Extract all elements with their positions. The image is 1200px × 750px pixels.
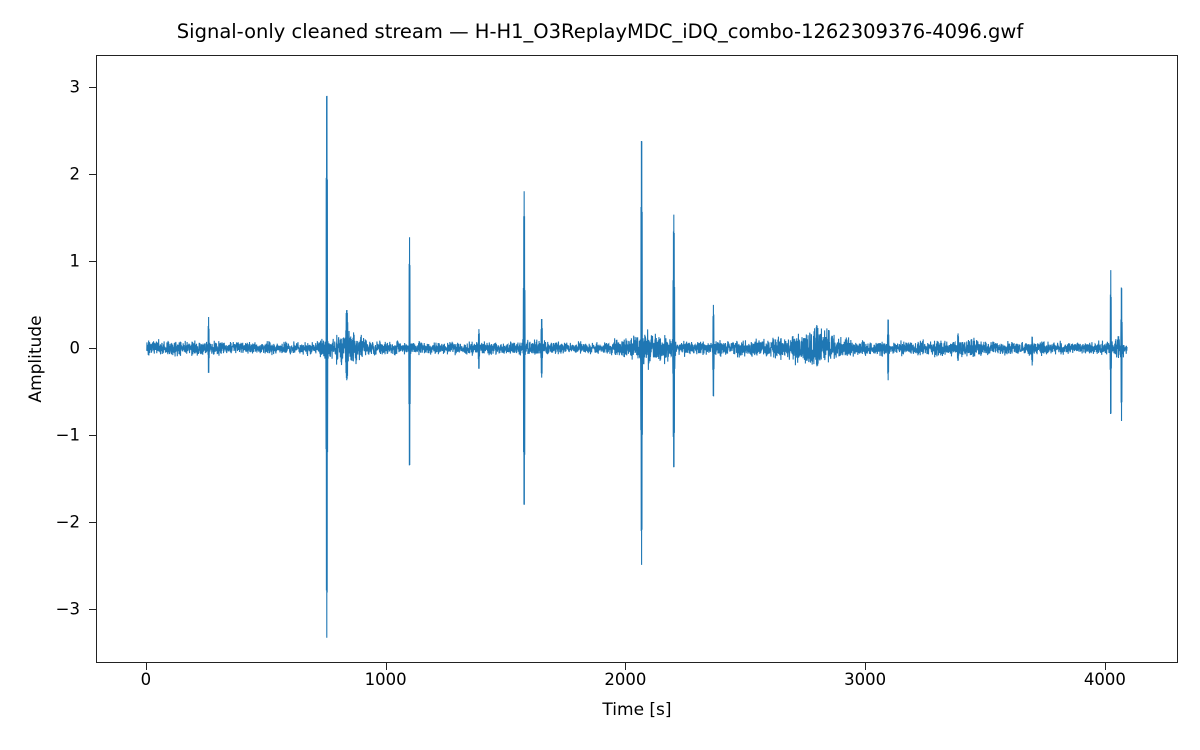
y-tick-label: 1: [20, 252, 80, 271]
y-tick-mark: [89, 609, 96, 610]
series-line-cleaned-strain: [147, 96, 1127, 638]
y-tick-label: −2: [20, 513, 80, 532]
y-axis-label: Amplitude: [26, 55, 54, 663]
y-tick-mark: [89, 261, 96, 262]
x-tick-mark: [625, 663, 626, 670]
plot-axes-area: [96, 55, 1178, 663]
x-tick-label: 3000: [820, 670, 910, 689]
x-tick-mark: [146, 663, 147, 670]
chart-title: Signal-only cleaned stream — H-H1_O3Repl…: [0, 20, 1200, 43]
y-tick-label: 0: [20, 339, 80, 358]
x-tick-label: 4000: [1060, 670, 1150, 689]
y-tick-label: 3: [20, 78, 80, 97]
x-tick-label: 0: [101, 670, 191, 689]
y-tick-label: −1: [20, 426, 80, 445]
y-tick-mark: [89, 435, 96, 436]
x-tick-label: 1000: [341, 670, 431, 689]
y-tick-mark: [89, 522, 96, 523]
x-tick-mark: [1105, 663, 1106, 670]
y-tick-mark: [89, 348, 96, 349]
y-tick-mark: [89, 174, 96, 175]
x-tick-mark: [865, 663, 866, 670]
x-axis-label: Time [s]: [96, 700, 1178, 720]
figure-canvas: Signal-only cleaned stream — H-H1_O3Repl…: [0, 0, 1200, 750]
x-tick-mark: [386, 663, 387, 670]
x-tick-label: 2000: [580, 670, 670, 689]
y-tick-label: −3: [20, 600, 80, 619]
waveform-trace: [97, 56, 1177, 662]
y-tick-label: 2: [20, 165, 80, 184]
y-tick-mark: [89, 87, 96, 88]
